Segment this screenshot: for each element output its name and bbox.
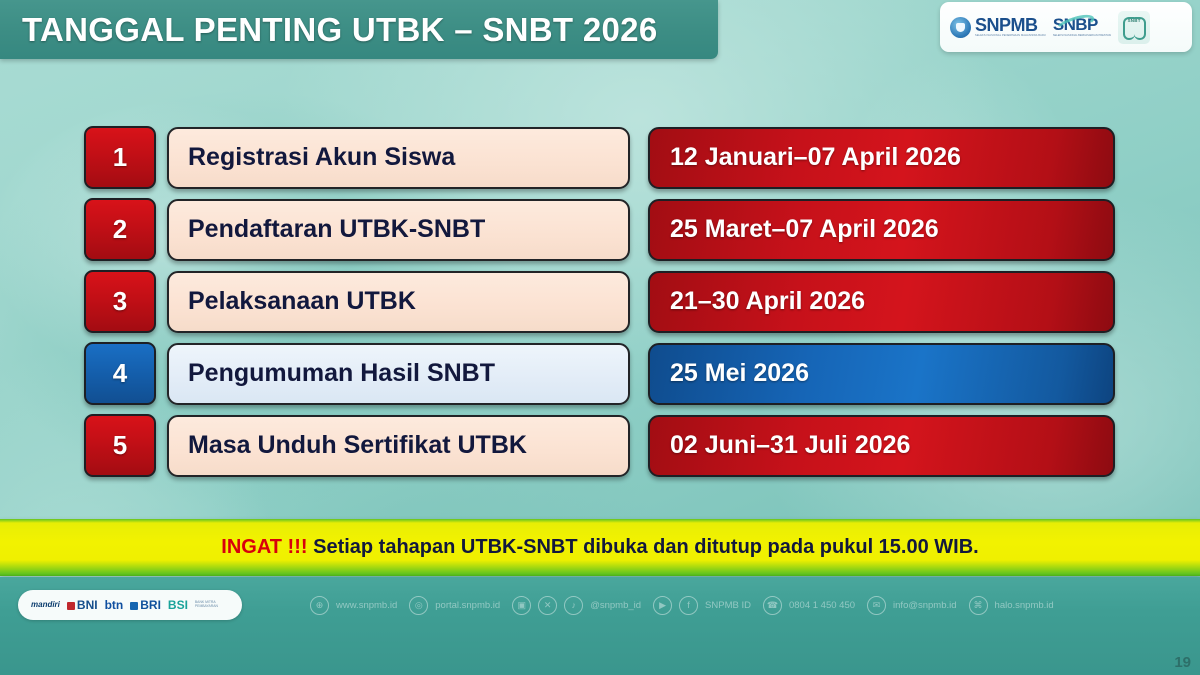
contact-social-handle[interactable]: @snpmb_id <box>590 600 641 611</box>
contact-email[interactable]: info@snpmb.id <box>893 600 957 611</box>
contact-portal[interactable]: portal.snpmb.id <box>435 600 500 611</box>
row-number-badge: 5 <box>84 414 156 477</box>
phone-icon[interactable]: ☎ <box>763 596 782 615</box>
row-number-badge: 2 <box>84 198 156 261</box>
snbt-wordmark: SNBT <box>1128 18 1141 23</box>
bank-logo-bsi: BSI <box>168 599 188 611</box>
row-date-value: 12 Januari–07 April 2026 <box>648 127 1115 189</box>
row-date-value: 25 Maret–07 April 2026 <box>648 199 1115 261</box>
facebook-icon[interactable]: f <box>679 596 698 615</box>
notice-message: Setiap tahapan UTBK-SNBT dibuka dan ditu… <box>313 536 979 558</box>
row-activity-label: Registrasi Akun Siswa <box>167 127 630 189</box>
contact-phone[interactable]: 0804 1 450 450 <box>789 600 855 611</box>
snbp-logo: SNBP SELEKSI NASIONAL BERDASARKAN PRESTA… <box>1053 16 1111 38</box>
row-number-badge: 1 <box>84 126 156 189</box>
row-activity-label: Pelaksanaan UTBK <box>167 271 630 333</box>
page-number: 19 <box>1174 654 1191 671</box>
x-twitter-icon[interactable]: ✕ <box>538 596 557 615</box>
page-title: TANGGAL PENTING UTBK – SNBT 2026 <box>22 11 657 49</box>
snpmb-subtitle: SELEKSI NASIONAL PENERIMAAN MAHASISWA BA… <box>975 35 1046 38</box>
mail-icon[interactable]: ✉ <box>867 596 886 615</box>
portal-icon[interactable]: ◎ <box>409 596 428 615</box>
table-row: 3 Pelaksanaan UTBK 21–30 April 2026 <box>0 270 1200 333</box>
notice-warning-label: INGAT !!! <box>221 536 307 558</box>
snbp-subtitle: SELEKSI NASIONAL BERDASARKAN PRESTASI <box>1053 35 1111 38</box>
table-row: 5 Masa Unduh Sertifikat UTBK 02 Juni–31 … <box>0 414 1200 477</box>
row-date-value: 21–30 April 2026 <box>648 271 1115 333</box>
table-row: 4 Pengumuman Hasil SNBT 25 Mei 2026 <box>0 342 1200 405</box>
tiktok-icon[interactable]: ♪ <box>564 596 583 615</box>
snpmb-seal-icon <box>950 17 971 38</box>
row-date-value: 02 Juni–31 Juli 2026 <box>648 415 1115 477</box>
bank-logo-mandiri: mandiri <box>31 601 60 609</box>
bank-logo-bri: BRI <box>130 599 161 611</box>
table-row: 2 Pendaftaran UTBK-SNBT 25 Maret–07 Apri… <box>0 198 1200 261</box>
row-number-badge: 3 <box>84 270 156 333</box>
row-number-badge: 4 <box>84 342 156 405</box>
row-activity-label: Pengumuman Hasil SNBT <box>167 343 630 405</box>
bank-logo-btn: btn <box>105 599 124 611</box>
instagram-icon[interactable]: ▣ <box>512 596 531 615</box>
youtube-icon[interactable]: ▶ <box>653 596 672 615</box>
notice-banner: INGAT !!! Setiap tahapan UTBK-SNBT dibuk… <box>0 519 1200 576</box>
globe-icon[interactable]: ⊕ <box>310 596 329 615</box>
row-activity-label: Masa Unduh Sertifikat UTBK <box>167 415 630 477</box>
headset-icon[interactable]: ⌘ <box>969 596 988 615</box>
contact-website[interactable]: www.snpmb.id <box>336 600 397 611</box>
title-bar: TANGGAL PENTING UTBK – SNBT 2026 <box>0 0 718 59</box>
snpmb-wordmark: SNPMB <box>975 16 1046 34</box>
bank-partner-caption: BANK MITRA PEMBAYARAN <box>195 601 229 608</box>
schedule-table: 1 Registrasi Akun Siswa 12 Januari–07 Ap… <box>0 126 1200 477</box>
snbt-logo: SNBT <box>1118 11 1150 44</box>
snpmb-logo: SNPMB SELEKSI NASIONAL PENERIMAAN MAHASI… <box>950 16 1046 38</box>
bank-logo-bni: BNI <box>67 599 98 611</box>
row-activity-label: Pendaftaran UTBK-SNBT <box>167 199 630 261</box>
bank-partner-strip: mandiri BNI btn BRI BSI BANK MITRA PEMBA… <box>18 590 242 620</box>
footer-bar: mandiri BNI btn BRI BSI BANK MITRA PEMBA… <box>0 577 1200 675</box>
contact-helpdesk[interactable]: halo.snpmb.id <box>995 600 1054 611</box>
row-date-value: 25 Mei 2026 <box>648 343 1115 405</box>
contact-facebook-name[interactable]: SNPMB ID <box>705 600 751 611</box>
table-row: 1 Registrasi Akun Siswa 12 Januari–07 Ap… <box>0 126 1200 189</box>
contact-strip: ⊕ www.snpmb.id ◎ portal.snpmb.id ▣ ✕ ♪ @… <box>310 591 1186 619</box>
notice-text: INGAT !!! Setiap tahapan UTBK-SNBT dibuk… <box>221 536 978 559</box>
logo-panel: SNPMB SELEKSI NASIONAL PENERIMAAN MAHASI… <box>940 2 1192 52</box>
